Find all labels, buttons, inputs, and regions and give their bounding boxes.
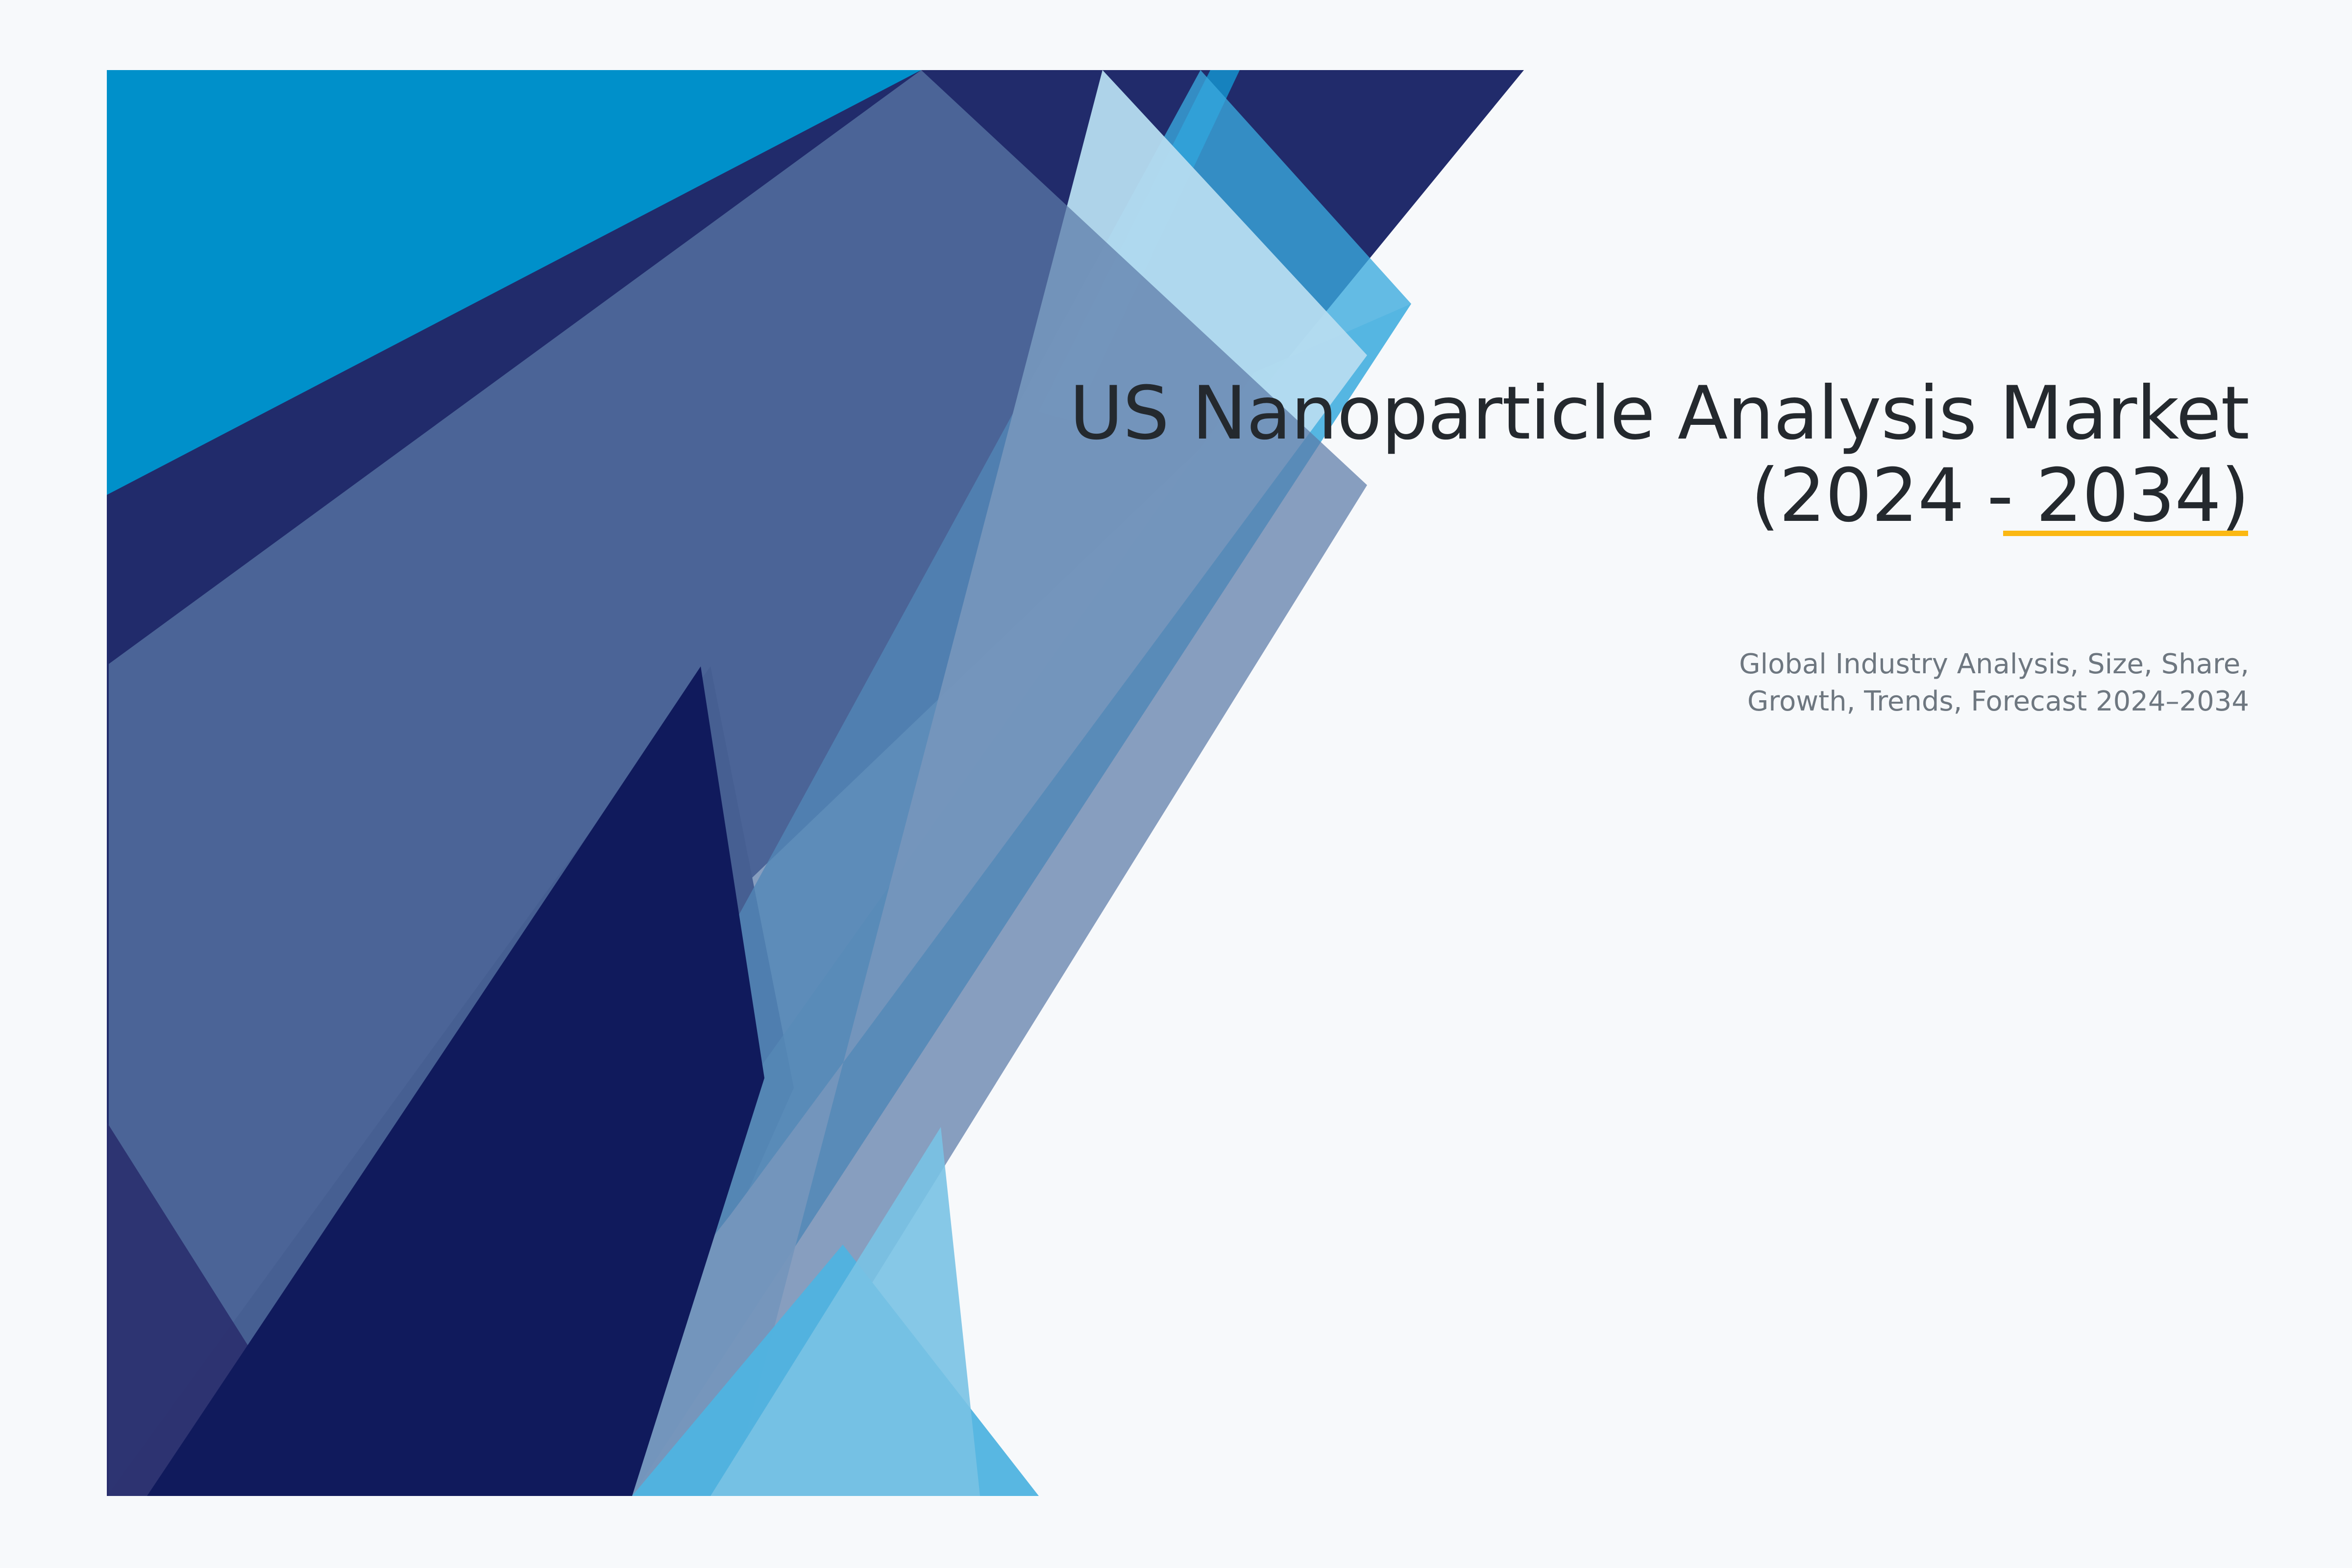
page-title: US Nanoparticle Analysis Market (2024 - … [735,372,2249,537]
page-background [0,0,2352,1568]
cyan-sliver-shape [1039,70,1240,421]
navy-wedge-shape [107,70,1524,1496]
pale-blue-band-shape [510,70,1367,1496]
bottom-pale-triangle-shape [710,1127,980,1496]
sky-blue-band-shape [421,70,1411,1496]
abstract-geometric-artwork [0,0,2352,1568]
navy-notch-shape [107,1122,343,1496]
bottom-light-wedge-shape [632,1245,1039,1496]
page-subtitle: Global Industry Analysis, Size, Share, G… [1269,646,2249,720]
slate-quad-shape [109,70,1367,1496]
title-underline-accent [2003,531,2248,536]
deep-navy-foot-shape [147,666,764,1496]
deep-navy-spike-shape [107,666,794,1496]
cyan-block-shape [107,70,1524,1102]
title-block: US Nanoparticle Analysis Market (2024 - … [735,372,2249,537]
report-cover-page: US Nanoparticle Analysis Market (2024 - … [0,0,2352,1568]
